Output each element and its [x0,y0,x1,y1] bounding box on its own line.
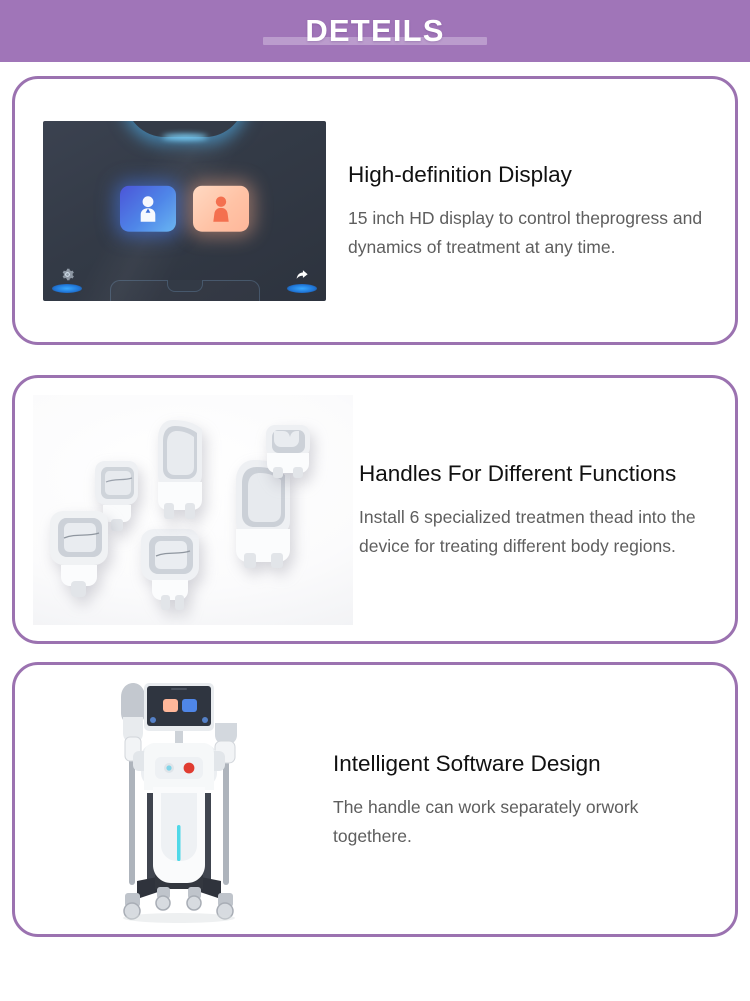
card-text-high-definition-display: High-definition Display 15 inch HD displ… [348,160,735,262]
feature-card-high-definition-display: High-definition Display 15 inch HD displ… [12,76,738,345]
settings-button-glow [52,284,82,293]
person-female-icon [210,194,232,222]
male-mode-tile[interactable] [120,185,176,231]
card-media-machine [15,675,333,925]
screen-settings-button[interactable] [50,267,84,293]
handle-applicator [261,421,317,479]
machine-power-button [184,762,195,773]
machine-screen-tile-female [163,699,178,712]
machine-screen [147,686,211,726]
machine-screen-tile-male [182,699,197,712]
screen-bottom-tray [110,280,260,301]
handle-applicator [151,417,217,521]
screen-mode-tiles [43,185,326,231]
card-description: 15 inch HD display to control theprogres… [348,204,717,262]
screen-top-light-bar [125,121,245,137]
card-title: Handles For Different Functions [359,459,717,489]
gear-icon [60,267,75,282]
feature-card-intelligent-software-design: Intelligent Software Design The handle c… [12,662,738,937]
card-description: The handle can work separately orwork to… [333,793,717,851]
page-title-wrapper: DETEILS [263,11,486,51]
card-media-device-screen [15,121,348,301]
card-title: Intelligent Software Design [333,749,717,779]
handles-photo [33,395,353,625]
machine-illustration [89,675,269,925]
card-text-intelligent-software-design: Intelligent Software Design The handle c… [333,749,735,851]
feature-card-handles-for-different-functions: Handles For Different Functions Install … [12,375,738,644]
share-arrow-icon [294,267,310,282]
handle-applicator [41,507,119,599]
card-media-handles [15,395,359,625]
page-title: DETEILS [305,11,444,51]
share-button-glow [287,284,317,293]
page-header-banner: DETEILS [0,0,750,62]
person-male-icon [137,194,159,222]
card-title: High-definition Display [348,160,717,190]
device-screen-photo [43,121,326,301]
machine-photo [29,675,329,925]
card-description: Install 6 specialized treatmen thead int… [359,503,717,561]
handle-applicator [133,525,211,613]
screen-share-button[interactable] [285,267,319,293]
female-mode-tile[interactable] [193,185,249,231]
machine-indicator-light [166,765,171,770]
machine-accent-light [177,825,181,861]
card-text-handles-for-different-functions: Handles For Different Functions Install … [359,459,735,561]
